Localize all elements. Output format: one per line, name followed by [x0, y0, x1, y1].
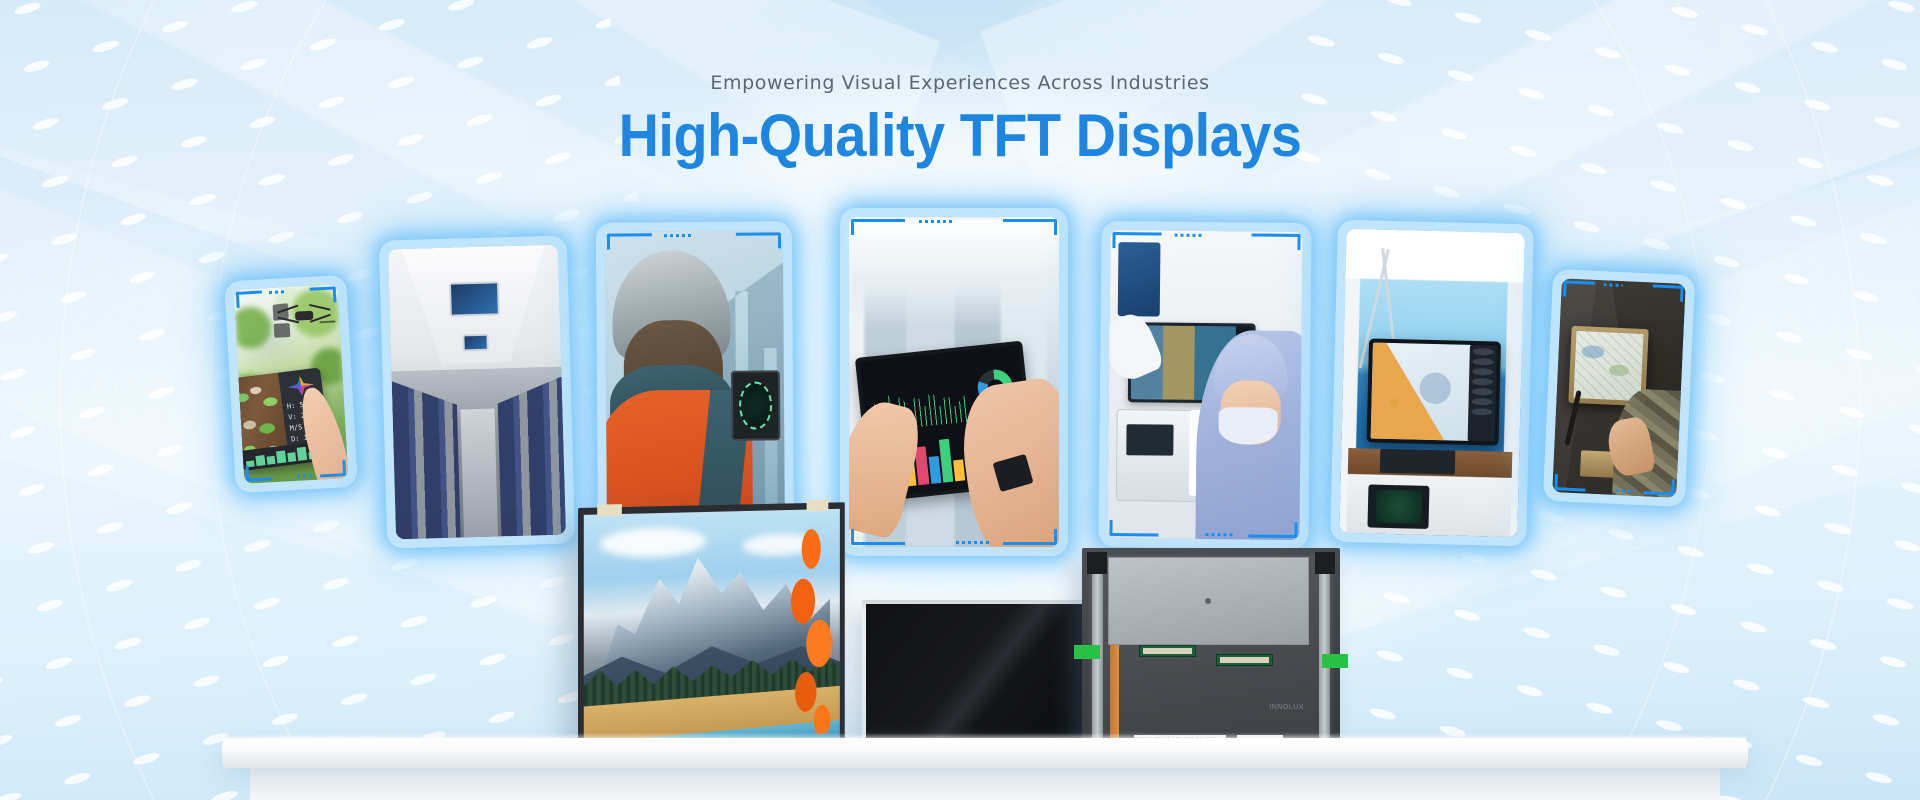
module-metal-plate — [1108, 557, 1309, 645]
module-connector-b — [1216, 654, 1273, 666]
module-green-tab-right — [1322, 654, 1348, 668]
hero-headline: High-Quality TFT Displays — [67, 104, 1853, 168]
hero-eyebrow: Empowering Visual Experiences Across Ind… — [0, 72, 1920, 94]
display-shelf — [222, 738, 1748, 768]
module-brand-watermark: INNOLUX — [1269, 704, 1304, 711]
module-connector-a — [1139, 645, 1196, 657]
hero-heading-group: Empowering Visual Experiences Across Ind… — [0, 72, 1920, 168]
hero-banner: Empowering Visual Experiences Across Ind… — [0, 0, 1920, 800]
module-green-tab-left — [1074, 645, 1100, 659]
panel-image-mountain — [584, 509, 840, 767]
